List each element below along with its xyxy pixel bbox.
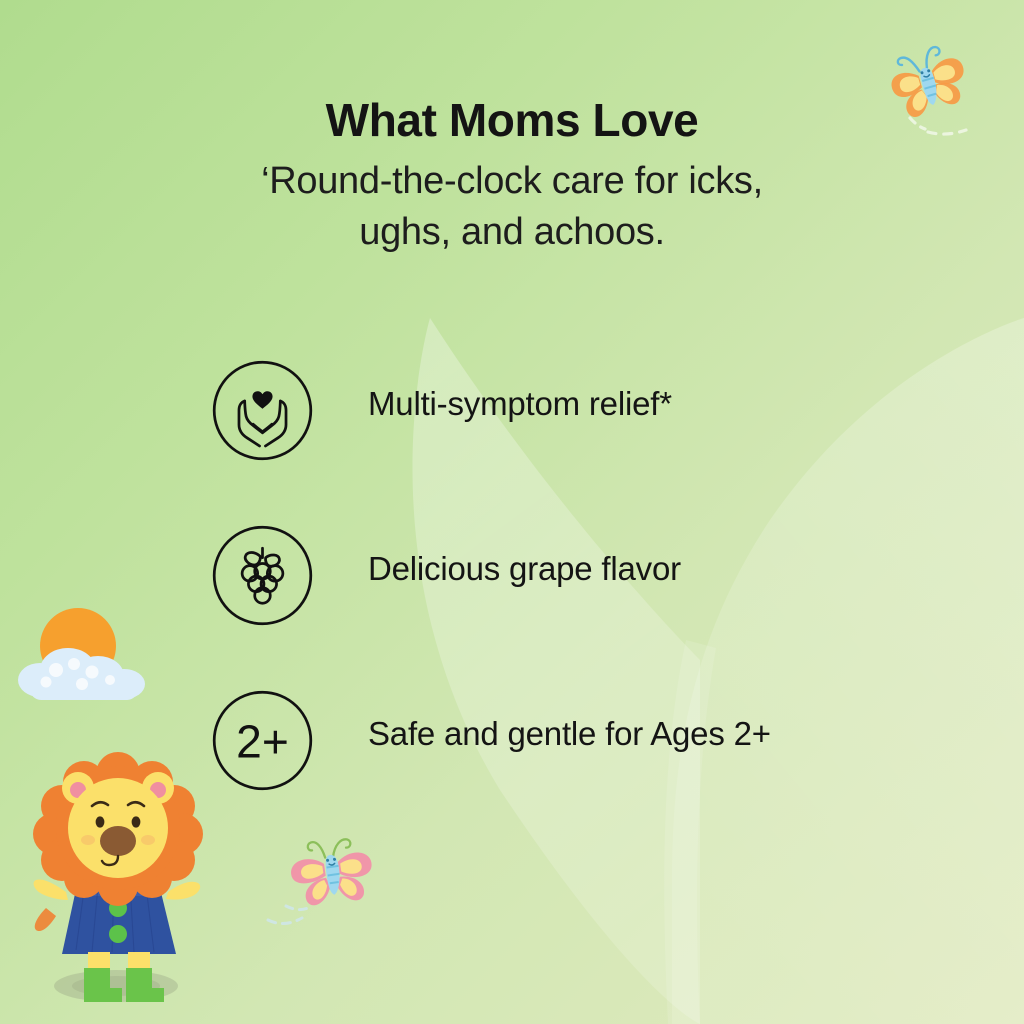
feature-item-grape-flavor: Delicious grape flavor: [0, 520, 1024, 685]
page-title: What Moms Love: [0, 96, 1024, 144]
age-2-plus-icon: 2+: [210, 688, 315, 793]
header-block: What Moms Love ‘Round-the-clock care for…: [0, 96, 1024, 257]
hands-holding-heart-icon: [210, 358, 315, 463]
subtitle-line-1: ‘Round-the-clock care for icks,: [132, 156, 892, 207]
age-2-plus-label: 2+: [236, 715, 289, 767]
feature-label-grape-flavor: Delicious grape flavor: [368, 550, 681, 588]
feature-list: Multi-symptom relief*: [0, 355, 1024, 850]
feature-label-age: Safe and gentle for Ages 2+: [368, 715, 771, 753]
page-subtitle: ‘Round-the-clock care for icks, ughs, an…: [132, 156, 892, 257]
feature-label-multi-symptom: Multi-symptom relief*: [368, 385, 672, 423]
feature-item-multi-symptom: Multi-symptom relief*: [0, 355, 1024, 520]
promo-card: What Moms Love ‘Round-the-clock care for…: [0, 0, 1024, 1024]
grapes-icon: [210, 523, 315, 628]
subtitle-line-2: ughs, and achoos.: [132, 207, 892, 258]
feature-item-age: 2+ Safe and gentle for Ages 2+: [0, 685, 1024, 850]
